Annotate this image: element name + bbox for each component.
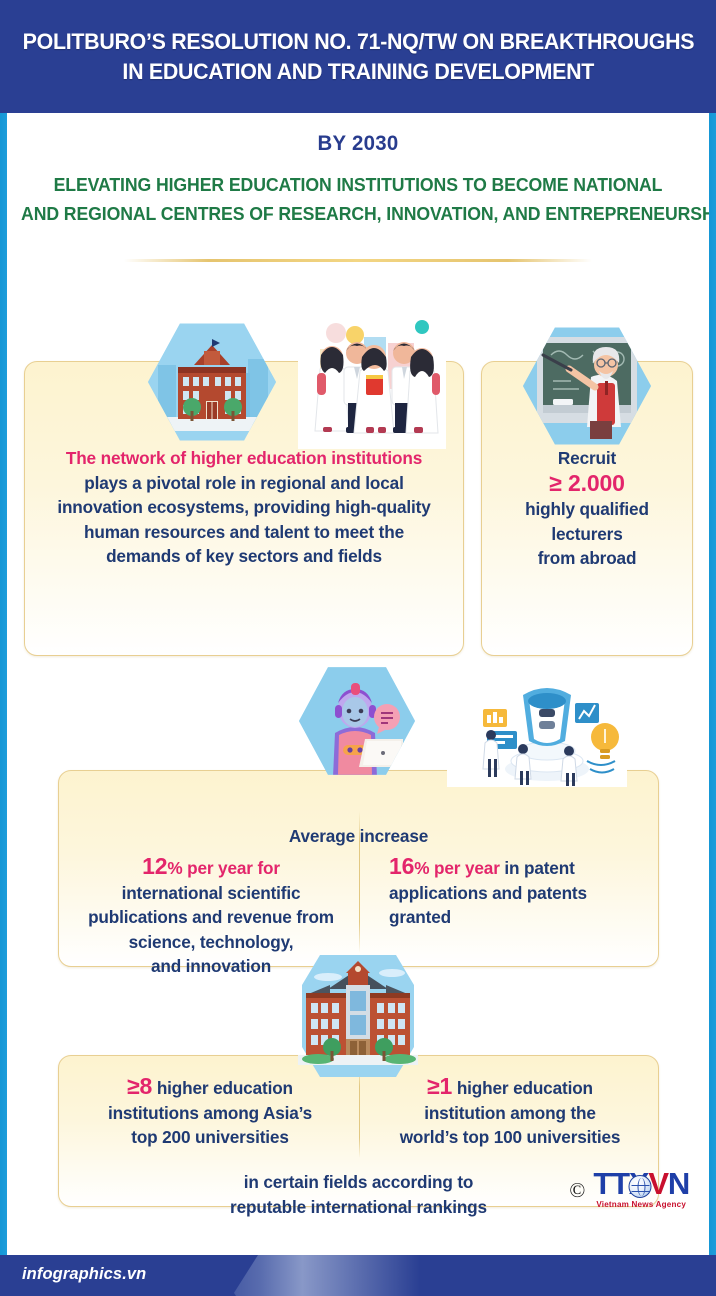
growth-left-figure-suffix: % per year for	[167, 858, 280, 878]
innovation-lab-icon	[447, 675, 627, 787]
infographic-page: POLITBURO’S RESOLUTION NO. 71-NQ/TW ON B…	[0, 0, 716, 1296]
rankings-note-line-2: reputable international rankings	[230, 1197, 487, 1217]
rankings-right-text: ≥1 higher education institution among th…	[363, 1074, 657, 1150]
growth-left-line-4: and innovation	[151, 956, 271, 976]
growth-card: Average increase 12% per year for intern…	[58, 770, 659, 967]
growth-right-after: in patent	[500, 858, 575, 878]
growth-right-line-1: applications and patents	[389, 883, 587, 903]
students-group-icon	[298, 309, 446, 449]
rankings-left-after: higher education	[152, 1078, 293, 1098]
left-edge-accent	[0, 0, 7, 1296]
growth-left-figure: 12	[142, 853, 167, 879]
growth-right-figure-suffix: % per year	[414, 858, 499, 878]
rankings-left-line-1: institutions among Asia’s	[108, 1103, 312, 1123]
header-title-line-2: IN EDUCATION AND TRAINING DEVELOPMENT	[122, 57, 594, 87]
gold-divider	[124, 259, 592, 262]
growth-left-line-1: international scientific	[122, 883, 301, 903]
rankings-note: in certain fields according to reputable…	[59, 1170, 658, 1219]
goal-statement: ELEVATING HIGHER EDUCATION INSTITUTIONS …	[7, 170, 709, 228]
recruit-figure: ≥ 2.000	[549, 470, 625, 496]
campus-building-icon	[284, 955, 432, 1077]
globe-icon	[629, 1175, 652, 1198]
ttxvn-agency-label: Vietnam News Agency	[593, 1200, 689, 1209]
header-banner: POLITBURO’S RESOLUTION NO. 71-NQ/TW ON B…	[0, 0, 716, 113]
network-line-3: human resources and talent to meet the	[84, 522, 404, 542]
network-line-2: innovation ecosystems, providing high-qu…	[57, 497, 430, 517]
ttxvn-n: N	[668, 1166, 689, 1201]
rankings-card-divider	[359, 1066, 360, 1158]
growth-right-line-2: granted	[389, 907, 451, 927]
ai-robot-laptop-icon	[299, 665, 415, 777]
rankings-left-figure: ≥8	[127, 1073, 152, 1099]
rankings-left-text: ≥8 higher education institutions among A…	[63, 1074, 357, 1150]
ttxvn-tt: TT	[593, 1166, 628, 1201]
recruit-line-2: highly qualified	[525, 499, 649, 519]
recruit-line-4: from abroad	[538, 548, 637, 568]
rankings-right-line-2: world’s top 100 universities	[400, 1127, 621, 1147]
network-line-1: plays a pivotal role in regional and loc…	[84, 473, 403, 493]
growth-left-line-2: publications and revenue from	[88, 907, 334, 927]
recruit-label: Recruit	[558, 448, 616, 468]
rankings-note-line-1: in certain fields according to	[244, 1172, 474, 1192]
footer-site-label: infographics.vn	[22, 1265, 146, 1284]
header-title-line-1: POLITBURO’S RESOLUTION NO. 71-NQ/TW ON B…	[22, 27, 694, 57]
footer-bar: infographics.vn	[0, 1255, 716, 1296]
network-highlight: The network of higher education institut…	[66, 448, 422, 468]
right-edge-accent	[709, 0, 716, 1296]
goal-line-2: AND REGIONAL CENTRES OF RESEARCH, INNOVA…	[21, 199, 695, 228]
rankings-right-line-1: institution among the	[424, 1103, 596, 1123]
growth-left-line-3: science, technology,	[129, 932, 294, 952]
network-line-4: demands of key sectors and fields	[106, 546, 382, 566]
ttxvn-wordmark: TTXVN Vietnam News Agency	[593, 1169, 689, 1209]
ttxvn-logo: © TTXVN Vietnam News Agency	[569, 1169, 689, 1209]
recruit-line-3: lecturers	[551, 524, 622, 544]
copyright-icon: ©	[569, 1180, 585, 1201]
growth-right-figure: 16	[389, 853, 414, 879]
by-year-label: BY 2030	[18, 132, 699, 156]
subtitle-block: BY 2030 ELEVATING HIGHER EDUCATION INSTI…	[7, 113, 709, 262]
growth-title: Average increase	[59, 824, 658, 849]
recruit-card-text: Recruit ≥ 2.000 highly qualified lecture…	[482, 446, 692, 571]
rankings-right-after: higher education	[452, 1078, 593, 1098]
infographic-body: BY 2030 ELEVATING HIGHER EDUCATION INSTI…	[7, 113, 709, 1255]
network-card-text: The network of higher education institut…	[25, 446, 463, 569]
growth-right-text: 16% per year in patent applications and …	[369, 854, 654, 930]
rankings-left-line-2: top 200 universities	[131, 1127, 288, 1147]
goal-line-1: ELEVATING HIGHER EDUCATION INSTITUTIONS …	[21, 170, 695, 199]
